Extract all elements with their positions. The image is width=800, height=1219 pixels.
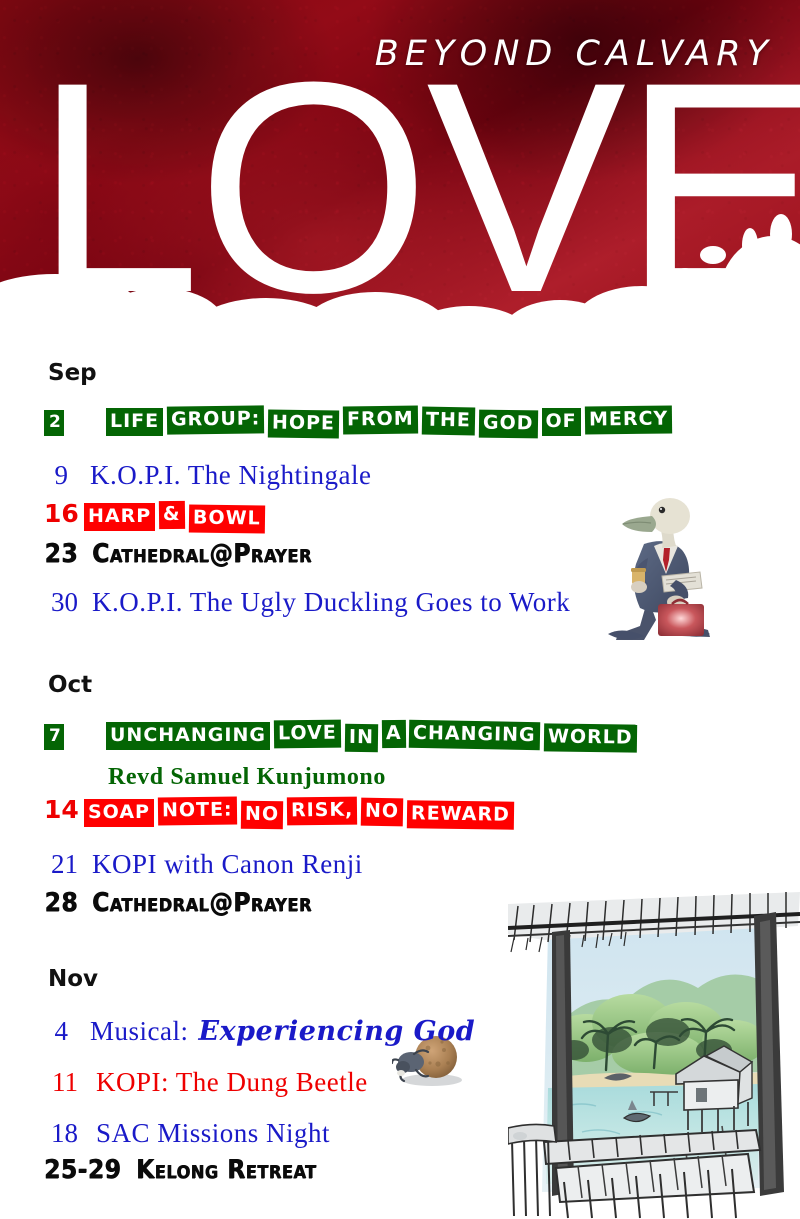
header-banner: LOVE Beyond Calvary [0,0,800,360]
event-speaker: Revd Samuel Kunjumono [108,764,800,791]
event-title-chips: LIFE GROUP: HOPE FROM THE GOD OF MERCY [106,408,672,436]
event-title: K.O.P.I. The Nightingale [90,460,371,491]
event-day: 9 [44,460,68,491]
schedule-row[interactable]: 9 K.O.P.I. The Nightingale [44,460,800,491]
event-day: 28 [44,888,78,918]
schedule-row[interactable]: 14 SOAP NOTE: NO RISK, NO REWARD [44,795,800,827]
banner-title: LOVE [34,62,800,312]
ransom-chip: UNCHANGING [106,722,270,750]
ransom-chip: HARP [84,503,155,531]
schedule-row[interactable]: 7 UNCHANGING LOVE IN A CHANGING WORLD [44,722,800,750]
event-title: K.O.P.I. The Ugly Duckling Goes to Work [92,587,570,618]
event-title: Cathedral@Prayer [92,539,312,569]
schedule-row[interactable]: 25-29 Kelong Retreat [44,1155,800,1185]
event-day: 14 [44,795,78,824]
ransom-chip: GROUP: [167,405,265,434]
ransom-chip: NO [240,801,282,830]
ransom-chip: MERCY [584,405,672,434]
schedule-row[interactable]: 23 Cathedral@Prayer [44,539,800,569]
schedule-row[interactable]: 18 SAC Missions Night [44,1118,800,1149]
event-title: SAC Missions Night [96,1118,330,1149]
schedule-row[interactable]: 21 KOPI with Canon Renji [44,849,800,880]
event-day: 11 [44,1067,78,1098]
schedule-row[interactable]: 4 Musical: Experiencing God [44,1016,800,1047]
event-day: 7 [44,724,64,750]
month-heading-sep: Sep [48,360,800,386]
event-title-script: Experiencing God [199,1016,476,1047]
event-day: 21 [44,849,78,880]
schedule-row[interactable]: 16 HARP & BOWL [44,499,800,531]
event-day: 18 [44,1118,78,1149]
event-day: 30 [44,587,78,618]
ransom-chip: GOD [479,410,538,439]
event-title: Kelong Retreat [136,1155,316,1185]
ransom-chip: & [159,501,185,529]
month-heading-oct: Oct [48,672,800,698]
ransom-chip: OF [542,408,581,436]
ransom-chip: IN [345,724,378,752]
ransom-chip: FROM [343,406,418,435]
ransom-chip: LIFE [106,408,163,436]
event-title-prefix: Musical: [90,1016,189,1047]
event-title-chips: SOAP NOTE: NO RISK, NO REWARD [84,799,514,827]
schedule-row[interactable]: 30 K.O.P.I. The Ugly Duckling Goes to Wo… [44,587,800,618]
event-title: KOPI: The Dung Beetle [96,1067,368,1098]
schedule-row[interactable]: 11 KOPI: The Dung Beetle [44,1067,800,1098]
event-day: 16 [44,499,78,528]
ransom-chip: RISK, [286,797,357,826]
ransom-chip: A [382,720,406,748]
ransom-chip: NO [361,798,404,827]
event-title-chips: HARP & BOWL [84,503,264,531]
schedule-row[interactable]: 2 LIFE GROUP: HOPE FROM THE GOD OF MERCY [44,408,800,436]
ransom-chip: CHANGING [409,720,540,751]
event-day: 23 [44,539,78,569]
schedule-list: Sep 2 LIFE GROUP: HOPE FROM THE GOD OF M… [0,350,800,1185]
schedule-row[interactable]: 28 Cathedral@Prayer [44,888,800,918]
ransom-chip: THE [422,406,475,435]
ransom-chip: WORLD [544,723,637,752]
ransom-chip: HOPE [268,410,339,439]
event-day: 4 [44,1016,68,1047]
ransom-chip: LOVE [274,720,341,749]
event-day: 25-29 [44,1155,130,1185]
event-title: Cathedral@Prayer [92,888,312,918]
ransom-chip: NOTE: [158,797,237,826]
banner-subtitle: Beyond Calvary [0,34,774,74]
event-day: 2 [44,410,64,436]
ransom-chip: BOWL [189,504,265,533]
month-heading-nov: Nov [48,966,800,992]
ransom-chip: REWARD [407,800,514,829]
event-title: KOPI with Canon Renji [92,849,363,880]
ransom-chip: SOAP [84,799,154,827]
event-title-chips: UNCHANGING LOVE IN A CHANGING WORLD [106,722,637,750]
